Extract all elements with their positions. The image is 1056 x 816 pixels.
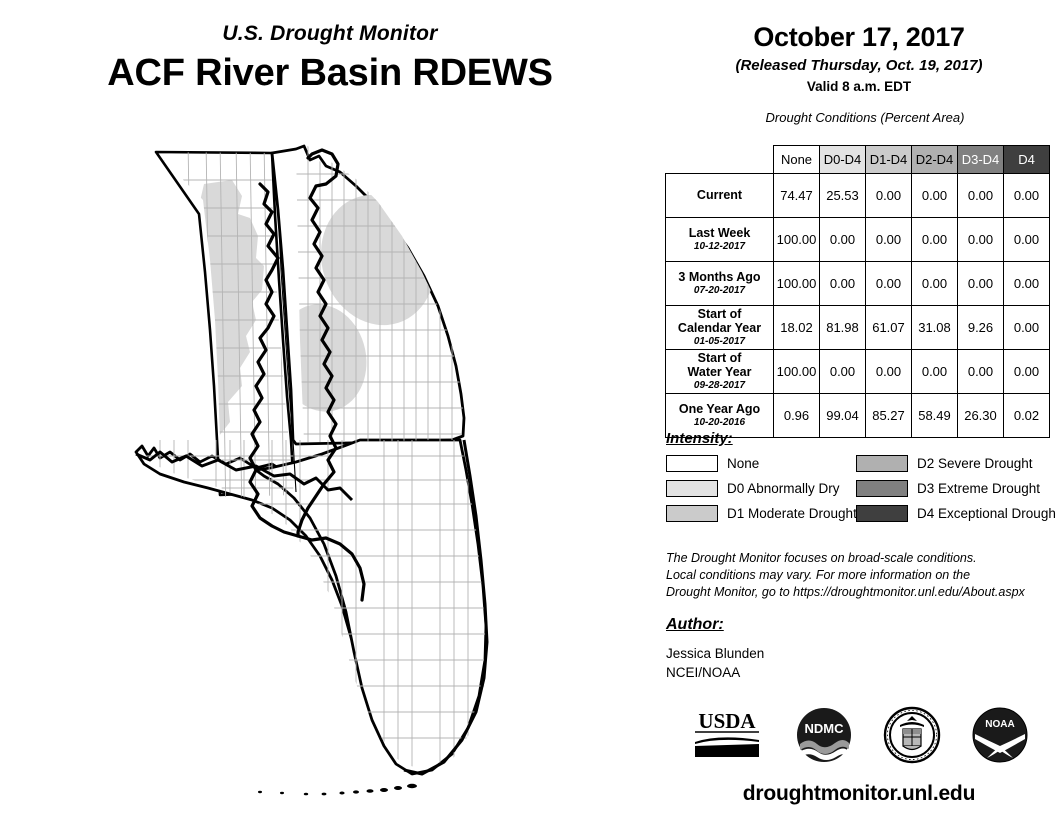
row-label-text: Last Week xyxy=(668,226,771,240)
row-label-date: 07-20-2017 xyxy=(668,285,771,296)
cell-d1-d4: 0.00 xyxy=(866,350,912,394)
cell-d0-d4: 0.00 xyxy=(820,262,866,306)
legend-column-left: None D0 Abnormally Dry D1 Moderate Droug… xyxy=(666,454,856,523)
disclaimer-line-2: Local conditions may vary. For more info… xyxy=(666,567,1054,584)
row-label-start-of-water-year: Start ofWater Year 09-28-2017 xyxy=(666,350,774,394)
cell-d0-d4: 0.00 xyxy=(820,350,866,394)
cell-d4: 0.00 xyxy=(1004,218,1050,262)
author-block: Jessica Blunden NCEI/NOAA xyxy=(666,644,764,682)
disclaimer-text: The Drought Monitor focuses on broad-sca… xyxy=(666,550,1054,601)
cell-none: 100.00 xyxy=(774,218,820,262)
column-header-d0-d4: D0-D4 xyxy=(820,146,866,174)
row-label-date: 10-12-2017 xyxy=(668,241,771,252)
swatch-d1-icon xyxy=(666,505,718,522)
acf-river-basin-drought-map[interactable] xyxy=(60,140,660,810)
table-caption: Drought Conditions (Percent Area) xyxy=(680,110,1050,125)
legend-label: D1 Moderate Drought xyxy=(727,506,857,521)
legend-item-d0: D0 Abnormally Dry xyxy=(666,479,856,498)
drought-conditions-table: None D0-D4 D1-D4 D2-D4 D3-D4 D4 Current … xyxy=(665,145,1050,438)
legend-label: D4 Exceptional Drought xyxy=(917,506,1056,521)
legend-label: D0 Abnormally Dry xyxy=(727,481,840,496)
legend-label: D3 Extreme Drought xyxy=(917,481,1040,496)
author-affiliation: NCEI/NOAA xyxy=(666,663,764,682)
cell-d1-d4: 0.00 xyxy=(866,262,912,306)
cell-d0-d4: 81.98 xyxy=(820,306,866,350)
swatch-d2-icon xyxy=(856,455,908,472)
cell-d1-d4: 61.07 xyxy=(866,306,912,350)
cell-none: 74.47 xyxy=(774,174,820,218)
cell-d3-d4: 0.00 xyxy=(958,218,1004,262)
cell-none: 100.00 xyxy=(774,350,820,394)
swatch-d3-icon xyxy=(856,480,908,497)
table-header-row: None D0-D4 D1-D4 D2-D4 D3-D4 D4 xyxy=(666,146,1050,174)
cell-d4: 0.00 xyxy=(1004,174,1050,218)
page-title: ACF River Basin RDEWS xyxy=(0,52,660,95)
legend-item-none: None xyxy=(666,454,856,473)
row-label-last-week: Last Week 10-12-2017 xyxy=(666,218,774,262)
cell-d2-d4: 31.08 xyxy=(912,306,958,350)
table-body: Current 74.47 25.53 0.00 0.00 0.00 0.00 … xyxy=(666,174,1050,438)
program-subtitle: U.S. Drought Monitor xyxy=(0,22,660,46)
legend-grid: None D0 Abnormally Dry D1 Moderate Droug… xyxy=(666,454,1056,523)
legend-item-d2: D2 Severe Drought xyxy=(856,454,1056,473)
ndmc-logo[interactable]: NDMC xyxy=(795,706,853,769)
column-header-d2-d4: D2-D4 xyxy=(912,146,958,174)
column-header-d4: D4 xyxy=(1004,146,1050,174)
site-url[interactable]: droughtmonitor.unl.edu xyxy=(662,782,1056,806)
row-label-start-of-calendar-year: Start ofCalendar Year 01-05-2017 xyxy=(666,306,774,350)
table-row: Start ofCalendar Year 01-05-2017 18.02 8… xyxy=(666,306,1050,350)
swatch-d0-icon xyxy=(666,480,718,497)
disclaimer-line-3: Drought Monitor, go to https://droughtmo… xyxy=(666,584,1054,601)
cell-d2-d4: 0.00 xyxy=(912,218,958,262)
ndmc-logo-text: NDMC xyxy=(805,721,845,736)
row-label-3-months-ago: 3 Months Ago 07-20-2017 xyxy=(666,262,774,306)
legend-label: None xyxy=(727,456,759,471)
cell-d1-d4: 0.00 xyxy=(866,218,912,262)
title-block: U.S. Drought Monitor ACF River Basin RDE… xyxy=(0,22,660,95)
cell-d3-d4: 0.00 xyxy=(958,174,1004,218)
cell-d1-d4: 0.00 xyxy=(866,174,912,218)
swatch-d4-icon xyxy=(856,505,908,522)
author-name-text: Jessica Blunden xyxy=(666,644,764,663)
legend-item-d4: D4 Exceptional Drought xyxy=(856,504,1056,523)
column-header-d3-d4: D3-D4 xyxy=(958,146,1004,174)
row-label-date: 09-28-2017 xyxy=(668,380,771,391)
cell-none: 18.02 xyxy=(774,306,820,350)
column-header-d1-d4: D1-D4 xyxy=(866,146,912,174)
noaa-logo[interactable]: NOAA xyxy=(971,706,1029,769)
row-label-text: Current xyxy=(668,188,771,202)
cell-d0-d4: 0.00 xyxy=(820,218,866,262)
cell-d2-d4: 0.00 xyxy=(912,174,958,218)
row-label-text: One Year Ago xyxy=(668,402,771,416)
table-row: Start ofWater Year 09-28-2017 100.00 0.0… xyxy=(666,350,1050,394)
cell-none: 100.00 xyxy=(774,262,820,306)
legend-item-d1: D1 Moderate Drought xyxy=(666,504,856,523)
row-label-current: Current xyxy=(666,174,774,218)
table-corner-cell xyxy=(666,146,774,174)
disclaimer-line-1: The Drought Monitor focuses on broad-sca… xyxy=(666,550,1054,567)
legend-title: Intensity: xyxy=(666,430,1056,447)
cell-d2-d4: 0.00 xyxy=(912,350,958,394)
legend-item-d3: D3 Extreme Drought xyxy=(856,479,1056,498)
table-row: Last Week 10-12-2017 100.00 0.00 0.00 0.… xyxy=(666,218,1050,262)
cell-d4: 0.00 xyxy=(1004,350,1050,394)
column-header-none: None xyxy=(774,146,820,174)
row-label-date: 10-20-2016 xyxy=(668,417,771,428)
date-block: October 17, 2017 (Released Thursday, Oct… xyxy=(662,22,1056,94)
swatch-none-icon xyxy=(666,455,718,472)
legend-label: D2 Severe Drought xyxy=(917,456,1033,471)
author-heading: Author: xyxy=(666,616,724,634)
logo-strip: USDA NDMC xyxy=(662,702,1056,772)
right-info-column: October 17, 2017 (Released Thursday, Oct… xyxy=(662,22,1056,816)
cell-d4: 0.00 xyxy=(1004,262,1050,306)
valid-time: Valid 8 a.m. EDT xyxy=(662,79,1056,94)
cell-d3-d4: 0.00 xyxy=(958,262,1004,306)
map-svg xyxy=(60,140,660,810)
cell-d3-d4: 0.00 xyxy=(958,350,1004,394)
cell-d0-d4: 25.53 xyxy=(820,174,866,218)
usda-logo-text: USDA xyxy=(698,709,756,733)
florida-keys xyxy=(258,784,417,796)
release-date: (Released Thursday, Oct. 19, 2017) xyxy=(662,57,1056,74)
report-date: October 17, 2017 xyxy=(662,22,1056,53)
cell-d4: 0.00 xyxy=(1004,306,1050,350)
cell-d2-d4: 0.00 xyxy=(912,262,958,306)
table-row: 3 Months Ago 07-20-2017 100.00 0.00 0.00… xyxy=(666,262,1050,306)
noaa-logo-text: NOAA xyxy=(985,719,1014,730)
florida-peninsula xyxy=(256,440,486,774)
legend-column-right: D2 Severe Drought D3 Extreme Drought D4 … xyxy=(856,454,1056,523)
cell-d3-d4: 9.26 xyxy=(958,306,1004,350)
usdc-seal-logo[interactable] xyxy=(883,706,941,769)
row-label-date: 01-05-2017 xyxy=(668,336,771,347)
row-label-text: Start ofWater Year xyxy=(668,351,771,379)
row-label-text: Start ofCalendar Year xyxy=(668,307,771,335)
usda-logo[interactable]: USDA xyxy=(689,709,765,766)
table-row: Current 74.47 25.53 0.00 0.00 0.00 0.00 xyxy=(666,174,1050,218)
row-label-text: 3 Months Ago xyxy=(668,270,771,284)
intensity-legend: Intensity: None D0 Abnormally Dry D1 Mod… xyxy=(666,430,1056,523)
